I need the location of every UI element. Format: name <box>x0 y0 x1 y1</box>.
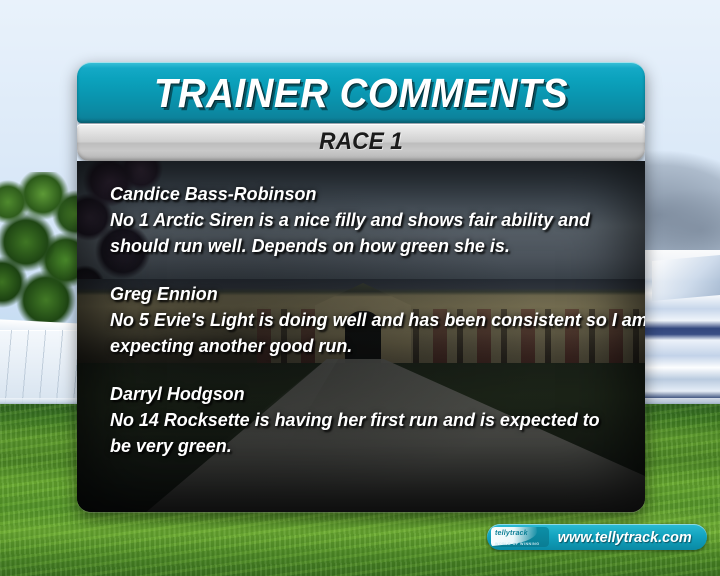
broadcast-graphic-screen: TRAINER COMMENTS RACE 1 Candice Bass-Rob… <box>0 0 720 576</box>
panel-body: Candice Bass-Robinson No 1 Arctic Siren … <box>77 161 645 512</box>
tellytrack-logo-text: tellytrack <box>495 530 528 537</box>
trainer-comments-list: Candice Bass-Robinson No 1 Arctic Siren … <box>110 181 625 459</box>
trainer-name: Candice Bass-Robinson <box>110 181 610 207</box>
comment-block: Candice Bass-Robinson No 1 Arctic Siren … <box>110 181 625 259</box>
panel-subtitle-bar: RACE 1 <box>77 124 645 161</box>
race-label: RACE 1 <box>91 124 631 159</box>
trainer-comments-panel: TRAINER COMMENTS RACE 1 Candice Bass-Rob… <box>77 62 645 512</box>
comment-line: expecting another good run. <box>110 333 610 359</box>
comment-line: No 14 Rocksette is having her first run … <box>110 407 610 433</box>
page-title: TRAINER COMMENTS <box>94 66 628 120</box>
tellytrack-watermark: tellytrack WORLD OF WINNING www.tellytra… <box>487 524 707 550</box>
comment-line: be very green. <box>110 433 610 459</box>
tellytrack-logo-tagline: WORLD OF WINNING <box>495 542 540 546</box>
grandstand-roof <box>652 255 720 301</box>
comment-block: Greg Ennion No 5 Evie's Light is doing w… <box>110 281 625 359</box>
comment-line: should run well. Depends on how green sh… <box>110 233 610 259</box>
comment-block: Darryl Hodgson No 14 Rocksette is having… <box>110 381 625 459</box>
trainer-name: Darryl Hodgson <box>110 381 610 407</box>
comment-line: No 5 Evie's Light is doing well and has … <box>110 307 610 333</box>
panel-title-bar: TRAINER COMMENTS <box>77 62 645 123</box>
comment-line: No 1 Arctic Siren is a nice filly and sh… <box>110 207 610 233</box>
tellytrack-url: www.tellytrack.com <box>558 529 692 546</box>
tellytrack-logo-icon: tellytrack WORLD OF WINNING <box>491 527 549 547</box>
trainer-name: Greg Ennion <box>110 281 610 307</box>
